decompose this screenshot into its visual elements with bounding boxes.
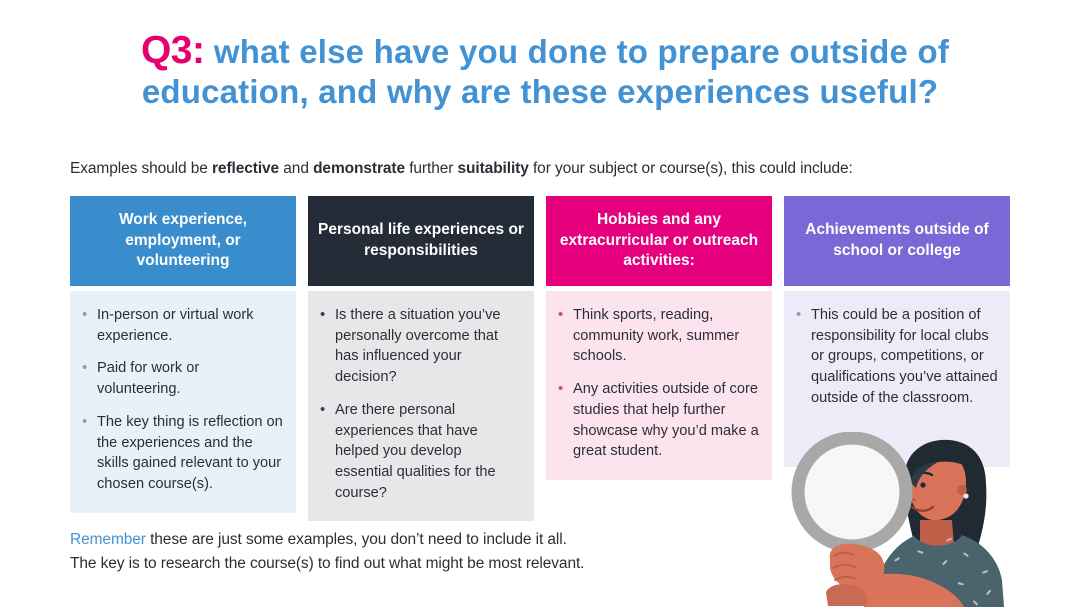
intro-bold-suitability: suitability bbox=[458, 160, 529, 177]
intro-part-1: Examples should be bbox=[70, 160, 212, 177]
title-text-line-1: what else have you done to prepare outsi… bbox=[214, 33, 949, 70]
card-body-personal-life: Is there a situation you’ve personally o… bbox=[308, 291, 534, 521]
footer-line-1: Remember these are just some examples, y… bbox=[70, 528, 584, 552]
title-line-2: education, and why are these experiences… bbox=[0, 73, 1080, 111]
card-work-experience: Work experience, employment, or voluntee… bbox=[70, 196, 296, 513]
card-personal-life: Personal life experiences or responsibil… bbox=[308, 196, 534, 521]
intro-part-4: for your subject or course(s), this coul… bbox=[529, 160, 853, 177]
intro-bold-reflective: reflective bbox=[212, 160, 279, 177]
card-header-hobbies: Hobbies and any extracurricular or outre… bbox=[546, 196, 772, 286]
eye bbox=[920, 482, 925, 487]
footer-remember-word: Remember bbox=[70, 531, 146, 548]
earring bbox=[963, 493, 968, 498]
intro-text: Examples should be reflective and demons… bbox=[70, 160, 853, 178]
list-item: Any activities outside of core studies t… bbox=[556, 379, 760, 462]
card-header-achievements: Achievements outside of school or colleg… bbox=[784, 196, 1010, 286]
card-body-work-experience: In-person or virtual work experience. Pa… bbox=[70, 291, 296, 513]
list-item: This could be a position of responsibili… bbox=[794, 305, 998, 409]
person-with-magnifying-glass-illustration bbox=[786, 432, 1080, 607]
card-header-work-experience: Work experience, employment, or voluntee… bbox=[70, 196, 296, 286]
list-item: In-person or virtual work experience. bbox=[80, 305, 284, 346]
title-line-1: Q3: what else have you done to prepare o… bbox=[0, 28, 1080, 73]
card-header-personal-life: Personal life experiences or responsibil… bbox=[308, 196, 534, 286]
illustration-svg bbox=[786, 432, 1080, 607]
list-item: Think sports, reading, community work, s… bbox=[556, 305, 760, 367]
page-title: Q3: what else have you done to prepare o… bbox=[0, 28, 1080, 112]
list-item: The key thing is reflection on the exper… bbox=[80, 412, 284, 495]
intro-part-2: and bbox=[279, 160, 313, 177]
intro-part-3: further bbox=[405, 160, 458, 177]
card-body-hobbies: Think sports, reading, community work, s… bbox=[546, 291, 772, 480]
question-label: Q3: bbox=[141, 29, 205, 72]
intro-bold-demonstrate: demonstrate bbox=[313, 160, 405, 177]
list-item: Are there personal experiences that have… bbox=[318, 400, 522, 504]
list-item: Is there a situation you’ve personally o… bbox=[318, 305, 522, 388]
card-hobbies: Hobbies and any extracurricular or outre… bbox=[546, 196, 772, 480]
card-achievements: Achievements outside of school or colleg… bbox=[784, 196, 1010, 467]
list-item: Paid for work or volunteering. bbox=[80, 358, 284, 399]
footer-note: Remember these are just some examples, y… bbox=[70, 528, 584, 576]
footer-line-1-rest: these are just some examples, you don’t … bbox=[146, 531, 567, 548]
title-text-line-2: education, and why are these experiences… bbox=[142, 73, 938, 110]
footer-line-2: The key is to research the course(s) to … bbox=[70, 552, 584, 576]
